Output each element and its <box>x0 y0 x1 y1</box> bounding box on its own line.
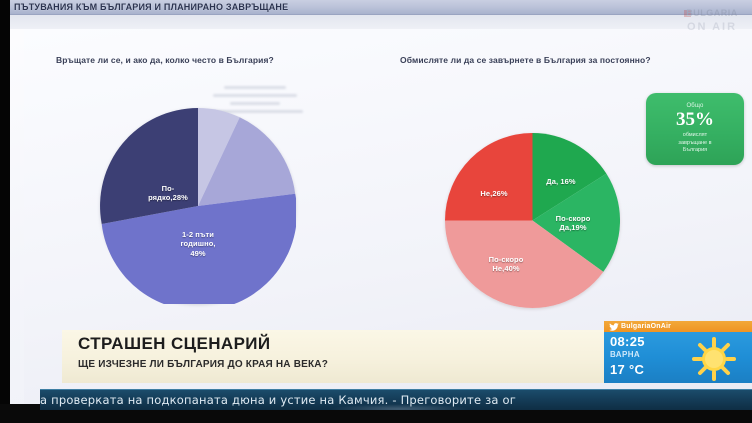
banner-headline: СТРАШЕН СЦЕНАРИЙ <box>78 334 271 354</box>
summary-callout-box: Общо 35% обмислят завръщане в България <box>646 93 744 165</box>
clock-time: 08:25 <box>610 334 645 349</box>
callout-percent-value: 35% <box>676 110 714 129</box>
slide-title-underband <box>10 15 752 29</box>
banner-subheadline: ЩЕ ИЗЧЕЗНЕ ЛИ БЪЛГАРИЯ ДО КРАЯ НА ВЕКА? <box>78 359 328 370</box>
watermark-line-1: BULGARIA <box>680 8 744 18</box>
weather-city: ВАРНА <box>610 350 640 359</box>
weather-clock-widget: BulgariaOnAir 08:25 ВАРНА 17 °C <box>604 321 752 383</box>
left-chart-question: Връщате ли се, и ако да, колко често в Б… <box>56 55 274 65</box>
right-pie-chart: Да, 16% По-скоро Да,19% По-скоро Не,40% … <box>445 133 620 308</box>
slide-title-bar: ПЪТУВАНИЯ КЪМ БЪЛГАРИЯ И ПЛАНИРАНО ЗАВРЪ… <box>10 0 752 15</box>
left-pie-svg <box>100 108 296 304</box>
slide-title: ПЪТУВАНИЯ КЪМ БЪЛГАРИЯ И ПЛАНИРАНО ЗАВРЪ… <box>14 0 288 14</box>
callout-subtext: обмислят завръщане в България <box>678 132 711 156</box>
right-chart-question: Обмисляте ли да се завърнете в България … <box>400 55 651 65</box>
social-handle-text: BulgariaOnAir <box>621 321 671 332</box>
weather-temperature: 17 °C <box>610 362 644 377</box>
bottom-black-bar <box>0 410 752 423</box>
right-pie-svg <box>445 133 620 308</box>
sun-icon <box>692 337 736 381</box>
channel-watermark-logo: BULGARIA ON AIR <box>680 2 744 38</box>
twitter-bird-icon <box>609 323 619 331</box>
left-black-gutter <box>0 0 10 404</box>
callout-subtext-line-2: завръщане в <box>678 140 711 146</box>
tv-screenshot: ПЪТУВАНИЯ КЪМ БЪЛГАРИЯ И ПЛАНИРАНО ЗАВРЪ… <box>0 0 752 423</box>
callout-subtext-line-1: обмислят <box>683 132 707 138</box>
left-pie-chart: По- рядко,28% 1-2 пъти годишно, 49% <box>100 108 296 304</box>
callout-top-label: Общо <box>686 103 703 109</box>
watermark-line-2: ON AIR <box>680 21 744 33</box>
callout-subtext-line-3: България <box>683 147 707 153</box>
